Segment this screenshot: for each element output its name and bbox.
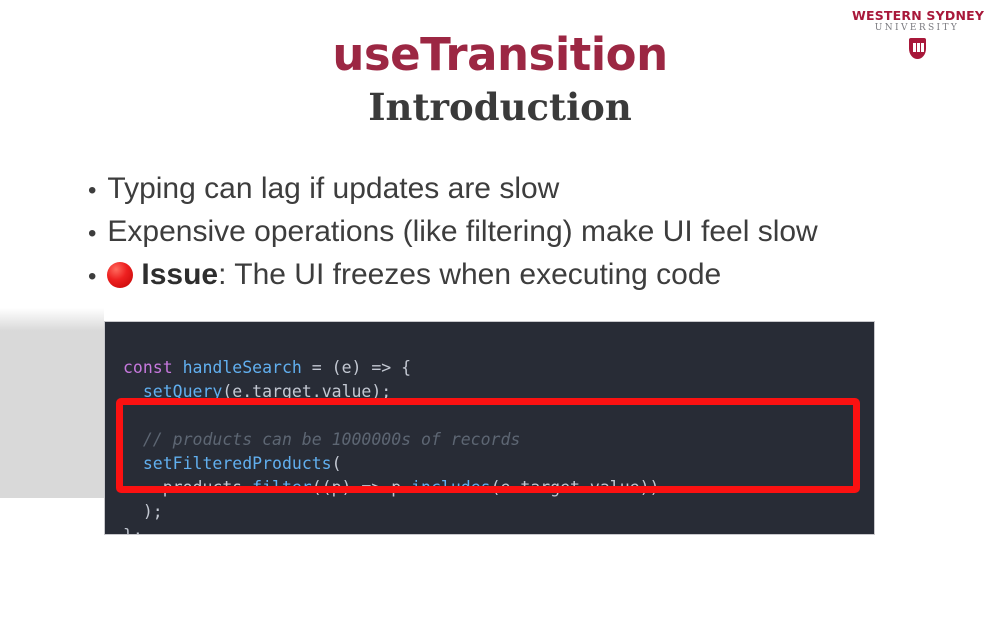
bullet-list: • Typing can lag if updates are slow • E… bbox=[88, 168, 968, 297]
code-token-plain: ); bbox=[123, 502, 163, 521]
code-token-plain: = (e) => { bbox=[302, 358, 411, 377]
code-token-comment: // products can be 1000000s of records bbox=[123, 430, 520, 449]
code-token-fn: handleSearch bbox=[183, 358, 302, 377]
list-item: • Issue: The UI freezes when executing c… bbox=[88, 254, 968, 297]
code-token-fn: setQuery bbox=[143, 382, 222, 401]
code-token-plain bbox=[123, 454, 143, 473]
bullet-text: Expensive operations (like filtering) ma… bbox=[107, 211, 817, 252]
code-block: const handleSearch = (e) => { setQuery(e… bbox=[104, 321, 875, 535]
bullet-marker-icon: • bbox=[88, 256, 96, 297]
code-token-plain: ( bbox=[332, 454, 342, 473]
code-token-plain: }; bbox=[123, 526, 143, 536]
code-token-plain: (e.target.value); bbox=[222, 382, 391, 401]
code-token-kw: const bbox=[123, 358, 183, 377]
code-content: const handleSearch = (e) => { setQuery(e… bbox=[123, 356, 659, 536]
bullet-text-issue: Issue: The UI freezes when executing cod… bbox=[107, 254, 721, 295]
red-circle-emoji bbox=[107, 262, 133, 288]
list-item: • Typing can lag if updates are slow bbox=[88, 168, 968, 211]
slide-subtitle: Introduction bbox=[0, 85, 1000, 129]
code-token-plain: ((p) => p. bbox=[312, 478, 411, 497]
code-token-plain: products. bbox=[123, 478, 252, 497]
bullet-marker-icon: • bbox=[88, 213, 96, 254]
slide-title: useTransition bbox=[0, 28, 1000, 81]
code-token-fn: includes bbox=[411, 478, 490, 497]
code-token-fn: filter bbox=[252, 478, 312, 497]
code-token-plain: (e.target.value)) bbox=[491, 478, 660, 497]
logo-title-line: WESTERN SYDNEY bbox=[852, 10, 982, 23]
bullet-text: Typing can lag if updates are slow bbox=[107, 168, 559, 209]
left-gray-panel bbox=[0, 308, 104, 498]
issue-label: Issue bbox=[141, 258, 218, 291]
list-item: • Expensive operations (like filtering) … bbox=[88, 211, 968, 254]
bullet-marker-icon: • bbox=[88, 170, 96, 211]
code-token-fn: setFilteredProducts bbox=[143, 454, 332, 473]
code-token-plain bbox=[123, 382, 143, 401]
issue-description: : The UI freezes when executing code bbox=[218, 258, 721, 291]
